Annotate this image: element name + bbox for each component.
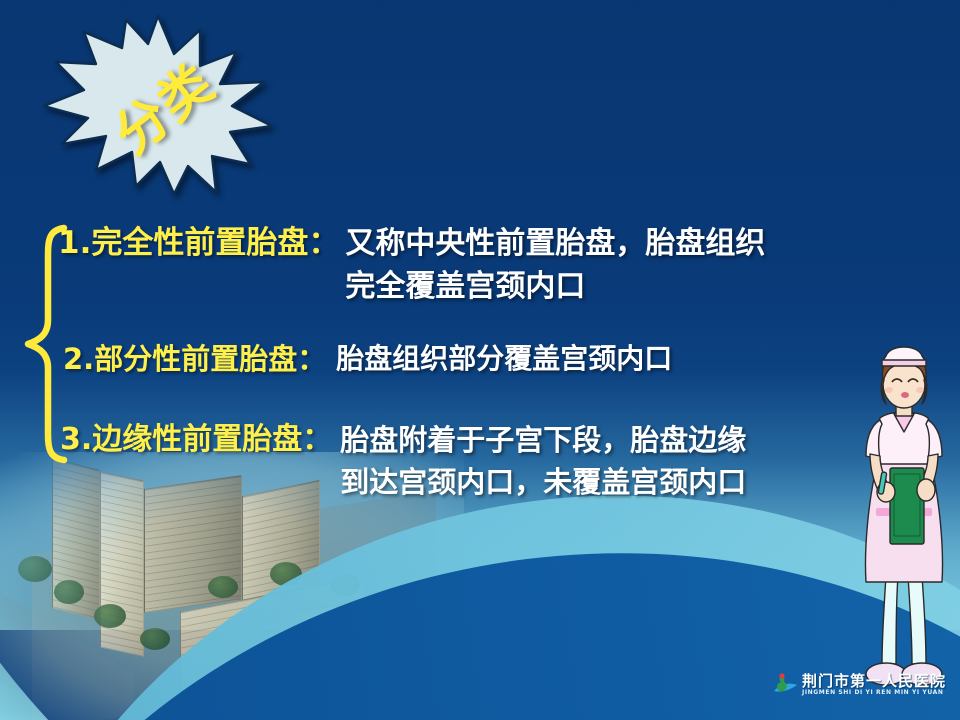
list-item-description: 又称中央性前置胎盘，胎盘组织 完全覆盖宫颈内口 xyxy=(345,222,765,308)
nurse-illustration xyxy=(846,340,960,712)
hospital-logo: 荆门市第一人民医院 JINGMEN SHI DI YI REN MIN YI Y… xyxy=(772,672,946,698)
hospital-name-pinyin: JINGMEN SHI DI YI REN MIN YI YUAN xyxy=(802,690,946,696)
list-item-number: 2. xyxy=(63,339,94,379)
hospital-name-cn: 荆门市第一人民医院 xyxy=(802,674,946,689)
list-item: 1. 完全性前置胎盘： 又称中央性前置胎盘，胎盘组织 完全覆盖宫颈内口 xyxy=(58,222,765,308)
slide-content: 1. 完全性前置胎盘： 又称中央性前置胎盘，胎盘组织 完全覆盖宫颈内口 2. 部… xyxy=(0,0,960,720)
slide-canvas: 分类 1. 完全性前置胎盘： 又称中央性前置胎盘，胎盘组织 完全覆盖宫颈内口 2… xyxy=(0,0,960,720)
list-item-term: 边缘性前置胎盘： xyxy=(92,419,332,460)
list-item-description: 胎盘附着于子宫下段，胎盘边缘 到达宫颈内口，未覆盖宫颈内口 xyxy=(340,419,746,503)
list-item: 2. 部分性前置胎盘： 胎盘组织部分覆盖宫颈内口 xyxy=(63,339,672,379)
list-item: 3. 边缘性前置胎盘： 胎盘附着于子宫下段，胎盘边缘 到达宫颈内口，未覆盖宫颈内… xyxy=(60,419,746,503)
hospital-logo-icon xyxy=(772,672,798,698)
list-item-number: 3. xyxy=(60,419,92,460)
hospital-logo-text: 荆门市第一人民医院 JINGMEN SHI DI YI REN MIN YI Y… xyxy=(802,674,946,696)
list-item-term: 完全性前置胎盘： xyxy=(91,222,339,264)
list-item-number: 1. xyxy=(58,222,91,264)
list-item-term: 部分性前置胎盘： xyxy=(94,339,326,379)
list-item-description: 胎盘组织部分覆盖宫颈内口 xyxy=(336,339,672,379)
